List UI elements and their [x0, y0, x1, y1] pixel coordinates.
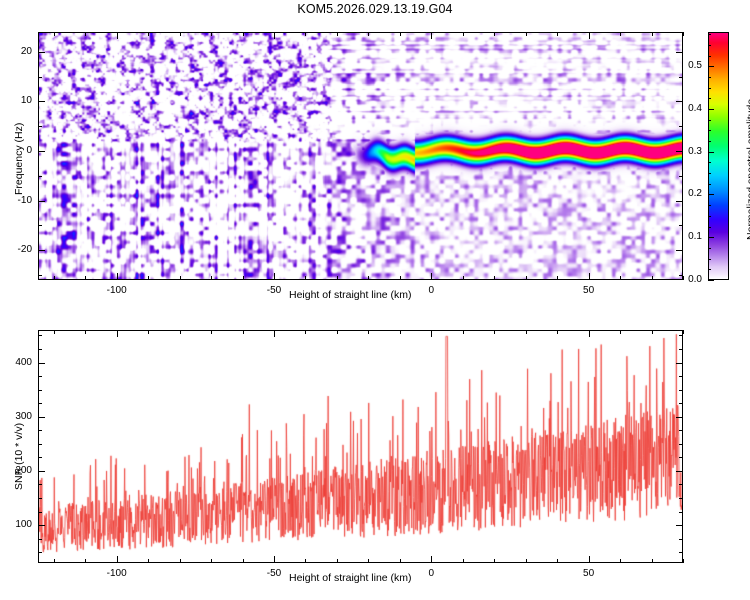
axis-tick — [211, 330, 212, 334]
axis-tick — [38, 376, 42, 377]
axis-tick — [38, 52, 45, 53]
axis-tick — [38, 225, 42, 226]
axis-tick — [683, 32, 684, 36]
axis-tick — [494, 330, 495, 334]
colorbar-tick — [708, 152, 714, 153]
axis-tick — [400, 32, 401, 36]
axis-tick — [211, 32, 212, 36]
axis-tick — [431, 556, 432, 563]
axis-tick-label: -20 — [0, 244, 32, 255]
axis-tick — [211, 559, 212, 563]
colorbar-tick — [708, 248, 711, 249]
colorbar-tick-label: 0.3 — [674, 146, 702, 157]
axis-tick — [243, 330, 244, 334]
axis-tick — [38, 126, 42, 127]
axis-tick — [54, 559, 55, 563]
axis-tick — [679, 403, 683, 404]
colorbar — [708, 32, 729, 280]
axis-tick — [180, 276, 181, 280]
axis-tick — [463, 32, 464, 36]
axis-tick — [589, 273, 590, 280]
axis-tick — [679, 77, 683, 78]
axis-tick — [679, 390, 683, 391]
page-title: KOM5.2026.029.13.19.G04 — [0, 2, 750, 16]
axis-tick — [400, 330, 401, 334]
axis-tick — [274, 556, 275, 563]
axis-tick — [38, 430, 42, 431]
axis-tick — [676, 525, 683, 526]
snr-trace-line — [39, 331, 682, 562]
axis-tick — [494, 276, 495, 280]
axis-tick — [117, 273, 118, 280]
axis-tick — [463, 330, 464, 334]
axis-tick — [676, 52, 683, 53]
axis-tick — [683, 559, 684, 563]
spectrogram-x-axis-label: Height of straight line (km) — [289, 289, 412, 301]
axis-tick — [305, 276, 306, 280]
axis-tick — [431, 273, 432, 280]
colorbar-tick-label: 0.0 — [674, 274, 702, 285]
axis-tick — [54, 330, 55, 334]
axis-tick — [38, 512, 42, 513]
axis-tick — [38, 335, 42, 336]
colorbar-tick — [708, 259, 711, 260]
colorbar-tick-label: 0.2 — [674, 188, 702, 199]
axis-tick — [38, 444, 42, 445]
axis-tick — [589, 556, 590, 563]
axis-tick — [620, 330, 621, 334]
colorbar-tick — [708, 109, 714, 110]
axis-tick-label: -100 — [93, 285, 141, 296]
axis-tick — [368, 276, 369, 280]
axis-tick — [38, 176, 42, 177]
axis-tick — [148, 330, 149, 334]
axis-tick — [38, 275, 42, 276]
axis-tick — [148, 276, 149, 280]
axis-tick — [274, 330, 275, 337]
axis-tick — [38, 484, 42, 485]
axis-tick — [305, 330, 306, 334]
axis-tick — [38, 417, 45, 418]
axis-tick — [679, 552, 683, 553]
axis-tick — [85, 559, 86, 563]
axis-tick — [557, 32, 558, 36]
axis-tick — [679, 176, 683, 177]
colorbar-tick — [708, 77, 711, 78]
axis-tick — [400, 559, 401, 563]
axis-tick — [148, 32, 149, 36]
colorbar-tick — [708, 227, 711, 228]
colorbar-tick — [708, 66, 714, 67]
axis-tick — [679, 498, 683, 499]
axis-tick-label: -100 — [93, 568, 141, 579]
axis-tick-label: 0 — [407, 285, 455, 296]
axis-tick — [243, 559, 244, 563]
colorbar-tick — [708, 280, 714, 281]
axis-tick — [463, 559, 464, 563]
axis-tick — [38, 498, 42, 499]
spectrogram-y-axis-label: Frequency (Hz) — [13, 123, 25, 195]
axis-tick — [274, 32, 275, 39]
colorbar-tick — [708, 194, 714, 195]
axis-tick — [243, 32, 244, 36]
axis-tick — [54, 32, 55, 36]
colorbar-tick-label: 0.5 — [674, 60, 702, 71]
axis-tick-label: 50 — [565, 285, 613, 296]
axis-tick — [557, 276, 558, 280]
axis-tick — [38, 101, 45, 102]
colorbar-tick — [708, 88, 711, 89]
axis-tick — [38, 201, 45, 202]
axis-tick — [180, 32, 181, 36]
spectrogram-plot-area — [38, 32, 683, 280]
axis-tick — [557, 559, 558, 563]
axis-tick — [85, 276, 86, 280]
axis-tick — [652, 330, 653, 334]
axis-tick-label: 50 — [565, 568, 613, 579]
axis-tick — [38, 390, 42, 391]
axis-tick — [676, 363, 683, 364]
colorbar-tick — [708, 216, 711, 217]
axis-tick — [679, 457, 683, 458]
colorbar-tick — [708, 56, 711, 57]
colorbar-tick-label: 0.4 — [674, 103, 702, 114]
axis-tick — [494, 32, 495, 36]
axis-tick — [652, 276, 653, 280]
colorbar-tick — [708, 130, 711, 131]
axis-tick — [526, 330, 527, 334]
colorbar-label: Normalized spectral amplitude — [745, 99, 750, 240]
figure-root: KOM5.2026.029.13.19.G04 -100-5005020100-… — [0, 0, 750, 600]
colorbar-tick — [708, 34, 711, 35]
axis-tick — [337, 559, 338, 563]
axis-tick — [676, 250, 683, 251]
axis-tick — [679, 335, 683, 336]
snr-plot-area — [38, 330, 683, 563]
axis-tick — [337, 32, 338, 36]
axis-tick — [679, 512, 683, 513]
axis-tick — [38, 471, 45, 472]
axis-tick — [652, 559, 653, 563]
axis-tick — [526, 32, 527, 36]
axis-tick — [431, 330, 432, 337]
axis-tick — [368, 32, 369, 36]
axis-tick — [683, 330, 684, 334]
axis-tick — [117, 32, 118, 39]
axis-tick-label: 400 — [0, 357, 32, 368]
axis-tick — [180, 330, 181, 334]
colorbar-tick — [708, 45, 711, 46]
axis-tick — [620, 276, 621, 280]
axis-tick — [679, 484, 683, 485]
axis-tick — [368, 559, 369, 563]
axis-tick — [526, 276, 527, 280]
axis-tick — [589, 32, 590, 39]
axis-tick — [148, 559, 149, 563]
axis-tick — [38, 552, 42, 553]
axis-tick — [38, 403, 42, 404]
colorbar-tick — [708, 269, 711, 270]
axis-tick-label: -10 — [0, 195, 32, 206]
colorbar-tick — [708, 237, 714, 238]
colorbar-tick — [708, 120, 711, 121]
axis-tick — [620, 559, 621, 563]
axis-tick — [38, 77, 42, 78]
axis-tick-label: 100 — [0, 519, 32, 530]
axis-tick — [494, 559, 495, 563]
axis-tick — [337, 330, 338, 334]
axis-tick — [337, 276, 338, 280]
axis-tick — [652, 32, 653, 36]
axis-tick — [117, 330, 118, 337]
axis-tick — [38, 539, 42, 540]
axis-tick — [243, 276, 244, 280]
axis-tick — [85, 330, 86, 334]
axis-tick — [679, 126, 683, 127]
axis-tick — [679, 225, 683, 226]
axis-tick — [679, 349, 683, 350]
colorbar-tick — [708, 205, 711, 206]
axis-tick — [463, 276, 464, 280]
axis-tick — [38, 349, 42, 350]
snr-x-axis-label: Height of straight line (km) — [289, 572, 412, 584]
axis-tick — [54, 276, 55, 280]
axis-tick — [85, 32, 86, 36]
colorbar-tick-label: 0.1 — [674, 231, 702, 242]
axis-tick — [676, 471, 683, 472]
axis-tick — [676, 201, 683, 202]
axis-tick — [679, 430, 683, 431]
colorbar-tick — [708, 162, 711, 163]
axis-tick — [589, 330, 590, 337]
axis-tick-label: 0 — [407, 568, 455, 579]
axis-tick — [431, 32, 432, 39]
axis-tick — [117, 556, 118, 563]
axis-tick — [679, 444, 683, 445]
axis-tick — [679, 376, 683, 377]
colorbar-tick — [708, 141, 711, 142]
spectrogram-image — [39, 33, 682, 279]
snr-y-axis-label: SNR (10 * v/v) — [13, 423, 25, 490]
axis-tick — [620, 32, 621, 36]
axis-tick — [400, 276, 401, 280]
axis-tick-label: 20 — [0, 46, 32, 57]
colorbar-tick — [708, 184, 711, 185]
colorbar-tick — [708, 173, 711, 174]
axis-tick — [526, 559, 527, 563]
axis-tick — [305, 32, 306, 36]
axis-tick — [676, 417, 683, 418]
axis-tick — [274, 273, 275, 280]
axis-tick — [679, 539, 683, 540]
axis-tick — [368, 330, 369, 334]
axis-tick — [211, 276, 212, 280]
axis-tick — [38, 457, 42, 458]
axis-tick — [557, 330, 558, 334]
axis-tick — [38, 151, 45, 152]
axis-tick — [305, 559, 306, 563]
axis-tick — [38, 250, 45, 251]
axis-tick-label: 300 — [0, 411, 32, 422]
colorbar-tick — [708, 98, 711, 99]
axis-tick — [180, 559, 181, 563]
axis-tick — [38, 363, 45, 364]
axis-tick — [38, 525, 45, 526]
axis-tick-label: 10 — [0, 95, 32, 106]
